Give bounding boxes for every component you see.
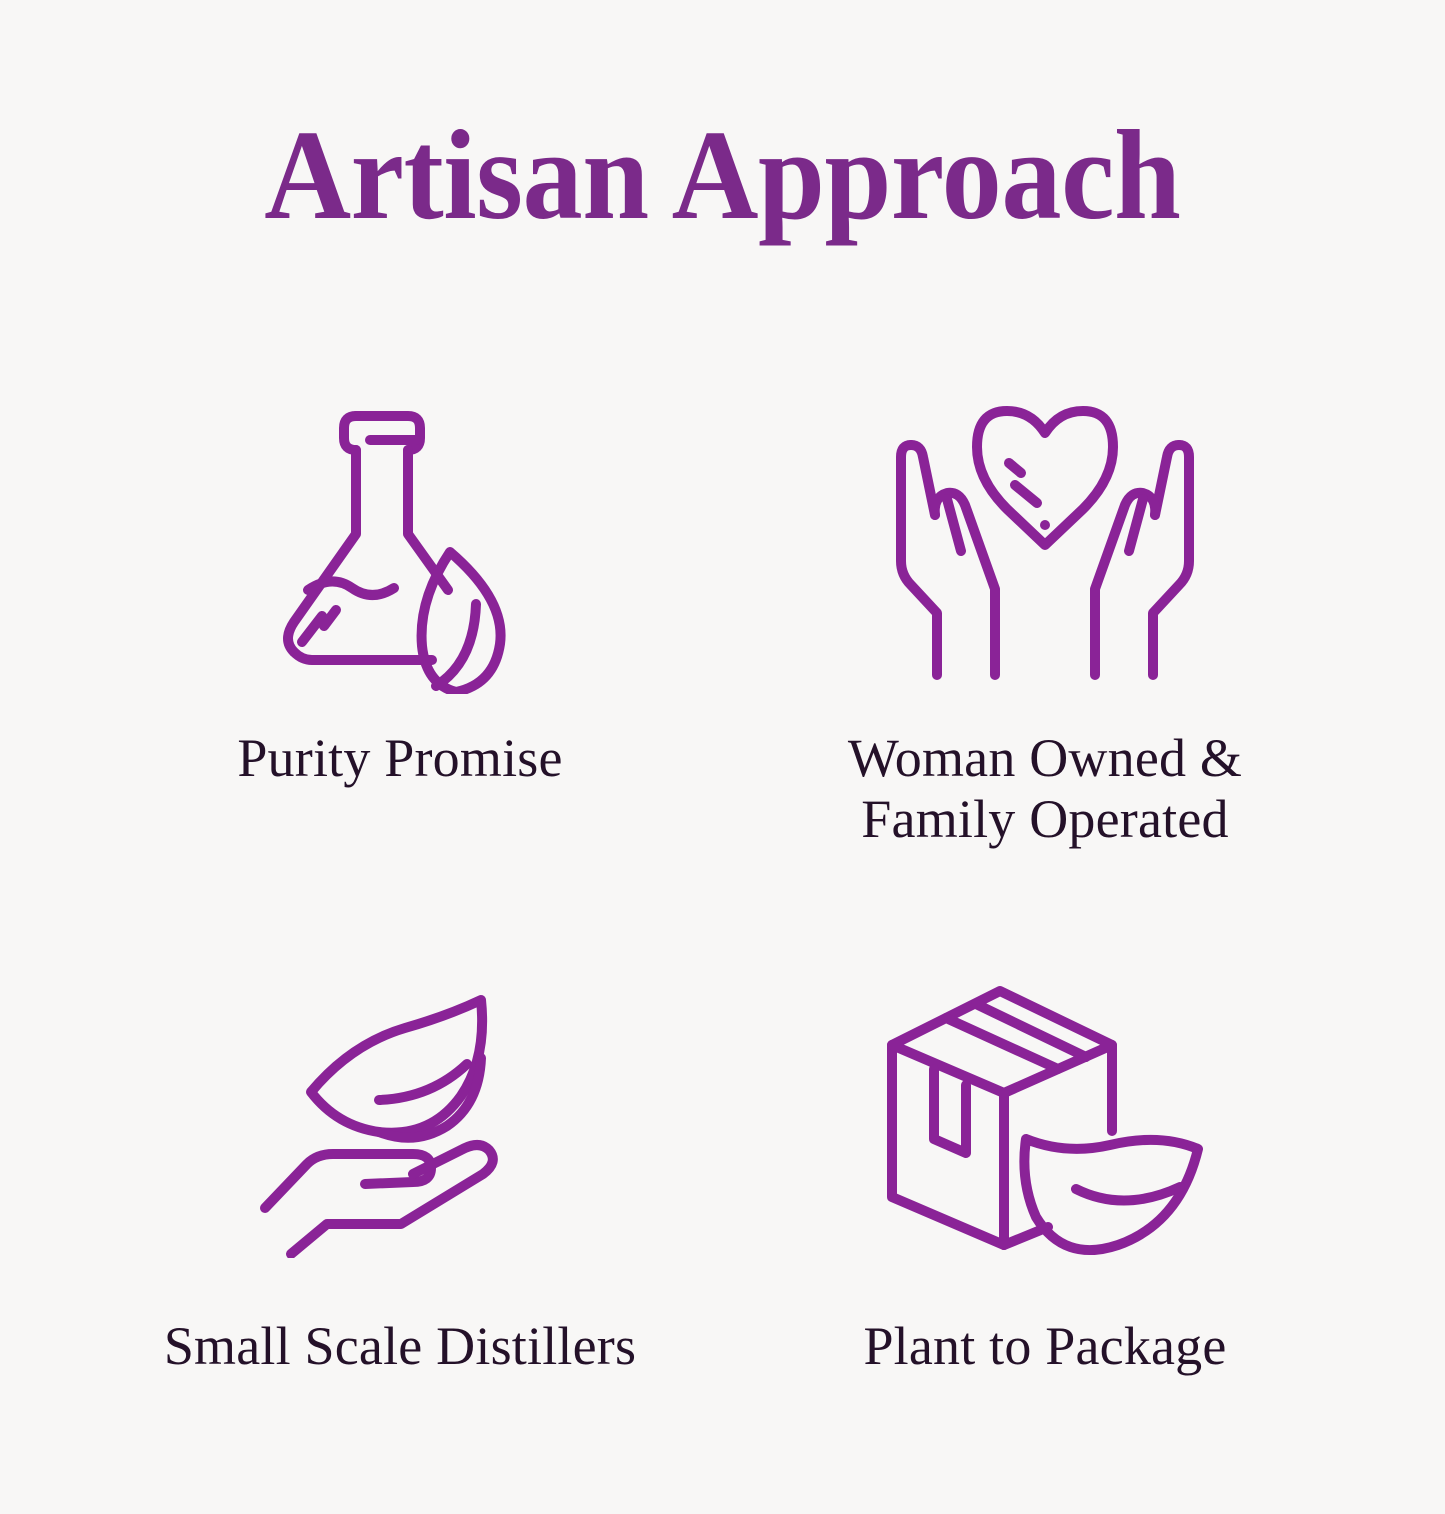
flask-leaf-icon xyxy=(260,394,540,694)
feature-item-small-scale-distillers: Small Scale Distillers xyxy=(78,954,723,1514)
feature-label: Woman Owned & Family Operated xyxy=(848,728,1242,849)
leaf-in-hand-icon xyxy=(255,968,545,1268)
page-title: Artisan Approach xyxy=(264,108,1180,242)
feature-item-purity-promise: Purity Promise xyxy=(78,394,723,954)
feature-item-woman-owned: Woman Owned & Family Operated xyxy=(723,394,1368,954)
hands-heart-icon xyxy=(885,394,1205,694)
feature-grid: Purity Promise xyxy=(78,394,1368,1514)
feature-label: Purity Promise xyxy=(237,728,562,788)
artisan-approach-panel: Artisan Approach xyxy=(0,0,1445,1445)
feature-item-plant-to-package: Plant to Package xyxy=(723,954,1368,1514)
feature-label: Plant to Package xyxy=(863,1316,1226,1376)
feature-label: Small Scale Distillers xyxy=(164,1316,636,1376)
box-leaf-icon xyxy=(880,968,1210,1268)
